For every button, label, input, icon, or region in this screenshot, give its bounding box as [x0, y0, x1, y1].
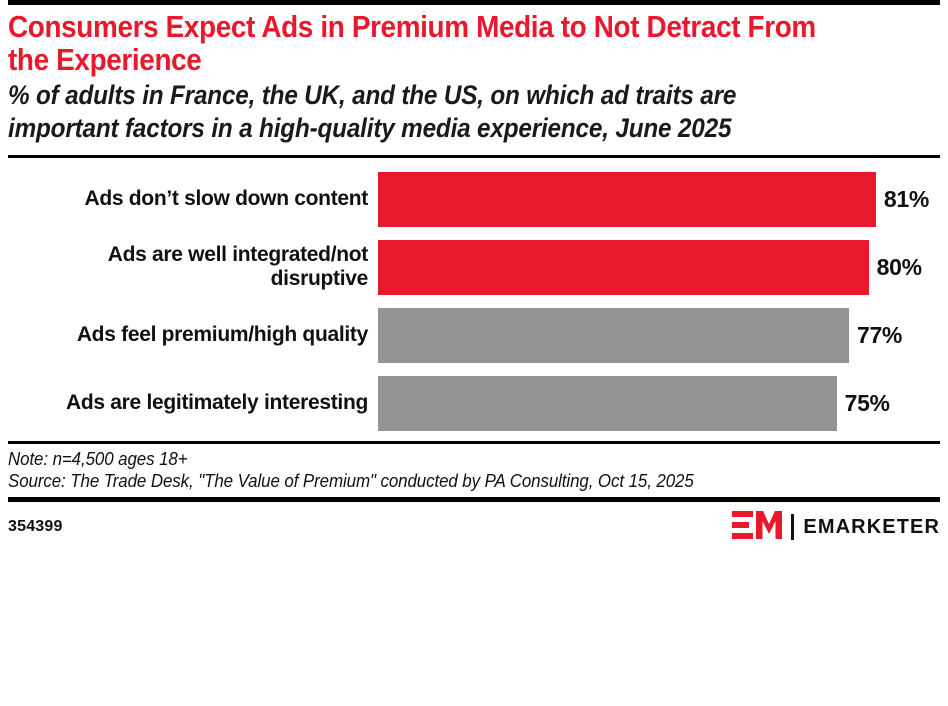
bar-row: Ads are legitimately interesting 75% [8, 376, 940, 431]
bar-track: 80% [378, 240, 940, 295]
source-text: Source: The Trade Desk, "The Value of Pr… [8, 471, 884, 493]
bar-track: 75% [378, 376, 940, 431]
bar-value-label: 81% [876, 186, 929, 213]
bar-value-label: 77% [849, 322, 902, 349]
chart-header: Consumers Expect Ads in Premium Media to… [8, 5, 940, 145]
chart-id: 354399 [8, 518, 63, 536]
bar-track: 77% [378, 308, 940, 363]
emarketer-logo: EMARKETER [732, 511, 940, 544]
bar-value-label: 80% [869, 254, 922, 281]
bar-fill [378, 172, 876, 227]
footnotes: Note: n=4,500 ages 18+ Source: The Trade… [8, 444, 940, 497]
bar-category-label: Ads don’t slow down content [8, 172, 378, 227]
chart-subtitle: % of adults in France, the UK, and the U… [8, 79, 847, 144]
bar-fill [378, 376, 837, 431]
bar-chart-plot: Ads don’t slow down content 81% Ads are … [8, 158, 940, 441]
bar-value-label: 75% [837, 390, 890, 417]
logo-divider [791, 514, 794, 540]
chart-title: Consumers Expect Ads in Premium Media to… [8, 10, 847, 76]
bar-row: Ads feel premium/high quality 77% [8, 308, 940, 363]
bar-row: Ads are well integrated/not disruptive 8… [8, 240, 940, 295]
bar-category-label: Ads are well integrated/not disruptive [8, 240, 378, 295]
brand-wordmark: EMARKETER [803, 516, 940, 539]
bar-fill [378, 308, 849, 363]
bar-track: 81% [378, 172, 940, 227]
em-monogram-icon [732, 511, 782, 544]
bar-fill [378, 240, 869, 295]
bar-row: Ads don’t slow down content 81% [8, 172, 940, 227]
bar-category-label: Ads feel premium/high quality [8, 308, 378, 363]
chart-footer: 354399 EMARKETER [8, 502, 940, 544]
bar-category-label: Ads are legitimately interesting [8, 376, 378, 431]
note-text: Note: n=4,500 ages 18+ [8, 449, 884, 471]
chart-card: Consumers Expect Ads in Premium Media to… [0, 0, 948, 706]
